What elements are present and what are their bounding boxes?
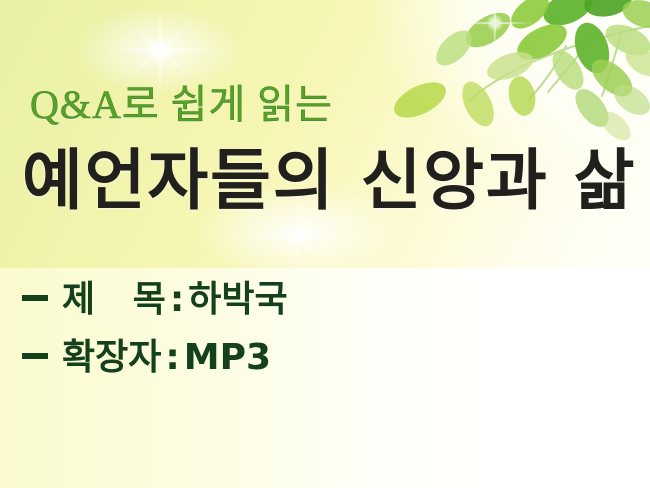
info-separator: :	[166, 282, 188, 318]
info-value-extension: MP3	[184, 340, 271, 376]
info-line-extension: 확장자 : MP3	[22, 340, 622, 376]
info-separator: :	[161, 340, 183, 376]
info-label-title: 제 목	[62, 282, 166, 318]
slide-page: Q&A로 쉽게 읽는 예언자들의 신앙과 삶 제 목 : 하박국 확장자 : M…	[0, 0, 650, 488]
info-label-extension: 확장자	[62, 340, 161, 376]
info-value-title: 하박국	[188, 282, 287, 318]
banner-title: 예언자들의 신앙과 삶	[22, 148, 636, 214]
leaf-branch-icon	[360, 0, 650, 150]
info-block: 제 목 : 하박국 확장자 : MP3	[22, 282, 622, 398]
banner-subtitle: Q&A로 쉽게 읽는	[30, 84, 333, 126]
info-line-title: 제 목 : 하박국	[22, 282, 622, 318]
banner-image: Q&A로 쉽게 읽는 예언자들의 신앙과 삶	[0, 0, 650, 268]
bullet-dash-icon	[22, 295, 48, 301]
bullet-dash-icon	[22, 353, 48, 359]
